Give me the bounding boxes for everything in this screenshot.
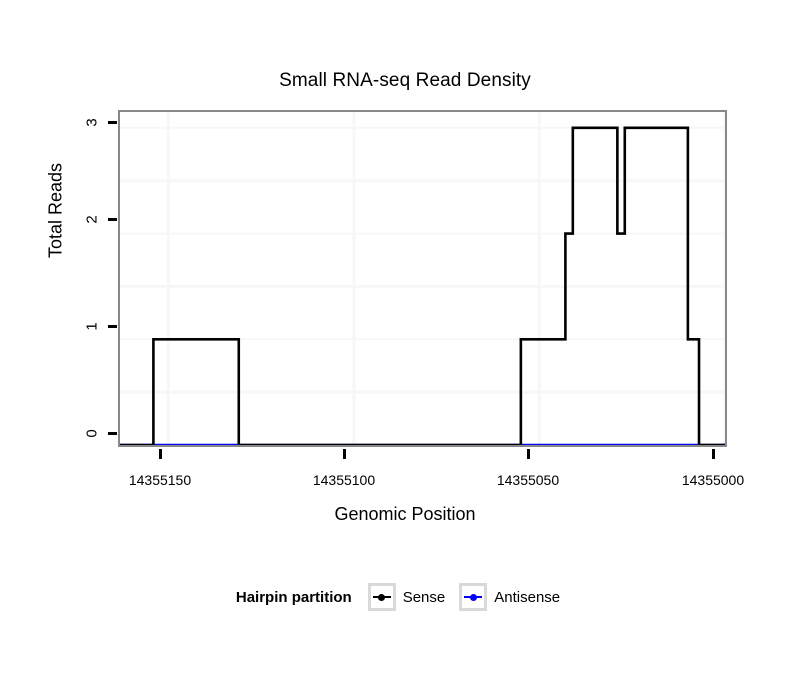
x-tick-label-2: 14355050 <box>468 472 588 488</box>
plot-area <box>120 112 725 445</box>
y-tick-mark-1 <box>108 325 117 328</box>
y-tick-mark-2 <box>108 218 117 221</box>
chart-root: Small RNA-seq Read Density Total Reads 0… <box>0 0 810 690</box>
y-tick-label-2: 2 <box>84 206 101 234</box>
x-tick-mark-2 <box>527 449 530 459</box>
x-tick-mark-3 <box>712 449 715 459</box>
y-tick-mark-0 <box>108 432 117 435</box>
legend-label-antisense: Antisense <box>494 589 560 606</box>
x-tick-mark-0 <box>159 449 162 459</box>
y-tick-label-0: 0 <box>84 420 101 448</box>
y-tick-label-3: 3 <box>84 109 101 137</box>
legend-key-antisense <box>459 583 487 611</box>
gridlines <box>120 112 725 445</box>
legend-title: Hairpin partition <box>236 589 352 606</box>
legend-dot-sense <box>378 594 385 601</box>
y-axis-label: Total Reads <box>46 131 67 291</box>
legend-entry-sense[interactable]: Sense <box>368 583 446 611</box>
x-tick-label-0: 14355150 <box>100 472 220 488</box>
x-tick-mark-1 <box>343 449 346 459</box>
y-tick-mark-3 <box>108 121 117 124</box>
legend: Hairpin partition Sense Antisense <box>0 583 810 611</box>
x-tick-label-3: 14355000 <box>653 472 773 488</box>
legend-label-sense: Sense <box>403 589 446 606</box>
x-tick-label-1: 14355100 <box>284 472 404 488</box>
x-axis-label: Genomic Position <box>0 504 810 525</box>
y-tick-label-1: 1 <box>84 313 101 341</box>
legend-key-sense <box>368 583 396 611</box>
plot-panel[interactable] <box>118 110 727 447</box>
legend-dot-antisense <box>470 594 477 601</box>
legend-entry-antisense[interactable]: Antisense <box>459 583 560 611</box>
chart-title: Small RNA-seq Read Density <box>0 70 810 92</box>
